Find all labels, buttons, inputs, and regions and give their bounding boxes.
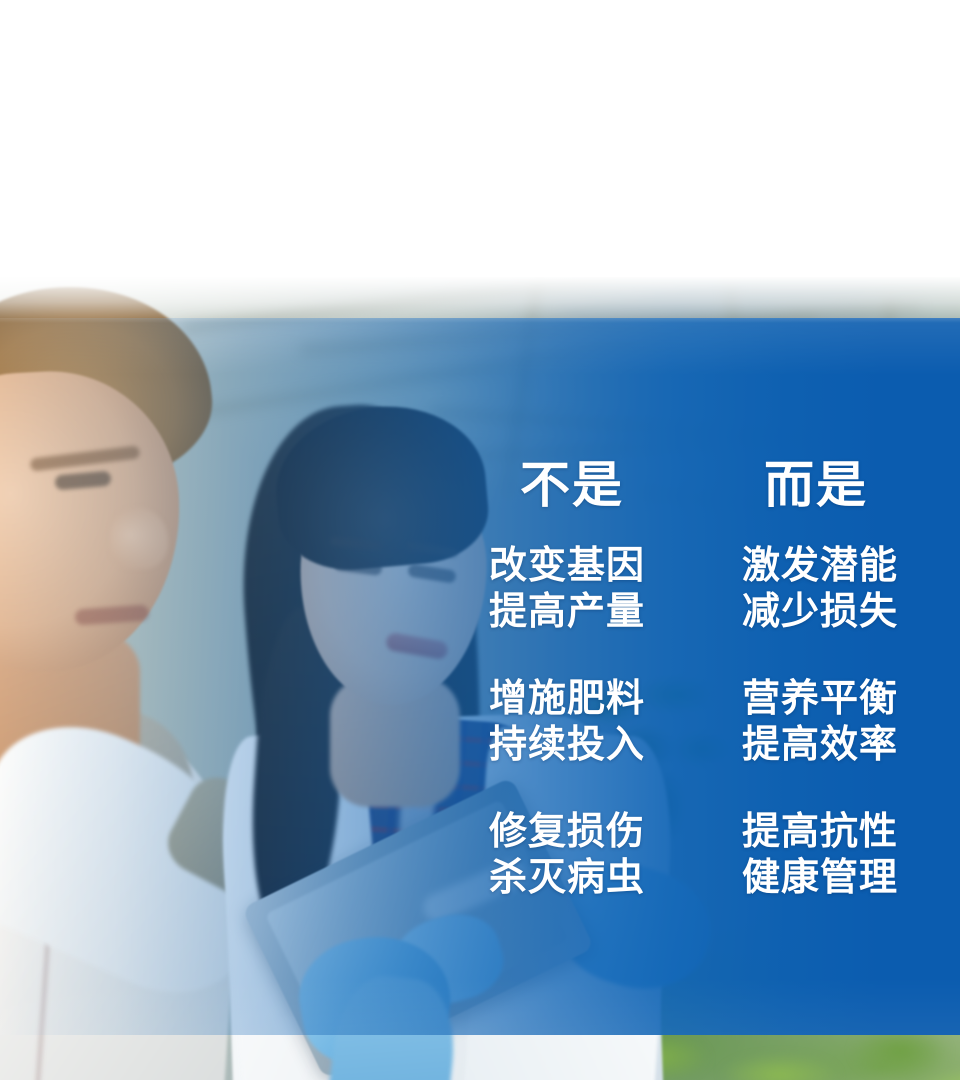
row-1-left-column: 改变基因 提高产量 [489, 543, 645, 635]
text-layer: 不是 而是 改变基因 提高产量 激发潜能 减少损失 增施肥料 持续投入 营养平衡… [0, 277, 960, 1080]
row-3-right-line-1: 提高抗性 [742, 809, 898, 855]
row-2-right-column: 营养平衡 提高效率 [742, 676, 898, 768]
heading-but: 而是 [764, 457, 868, 513]
row-3-right-line-2: 健康管理 [742, 855, 898, 901]
row-1-left-line-1: 改变基因 [489, 543, 645, 589]
row-2-right-line-2: 提高效率 [742, 722, 898, 768]
row-2-left-line-1: 增施肥料 [489, 676, 645, 722]
row-3-right-column: 提高抗性 健康管理 [742, 809, 898, 901]
column-headings: 不是 而是 [0, 457, 960, 527]
row-3-left-line-2: 杀灭病虫 [489, 855, 645, 901]
row-3-left-line-1: 修复损伤 [489, 809, 645, 855]
row-1-right-column: 激发潜能 减少损失 [742, 543, 898, 635]
row-1-right-line-1: 激发潜能 [742, 543, 898, 589]
row-1-right-line-2: 减少损失 [742, 589, 898, 635]
poster-canvas: 不是 而是 改变基因 提高产量 激发潜能 减少损失 增施肥料 持续投入 营养平衡… [0, 0, 960, 1080]
row-2-left-column: 增施肥料 持续投入 [489, 676, 645, 768]
heading-not: 不是 [520, 457, 624, 513]
row-2-left-line-2: 持续投入 [489, 722, 645, 768]
row-3-left-column: 修复损伤 杀灭病虫 [489, 809, 645, 901]
row-2-right-line-1: 营养平衡 [742, 676, 898, 722]
row-1-left-line-2: 提高产量 [489, 589, 645, 635]
